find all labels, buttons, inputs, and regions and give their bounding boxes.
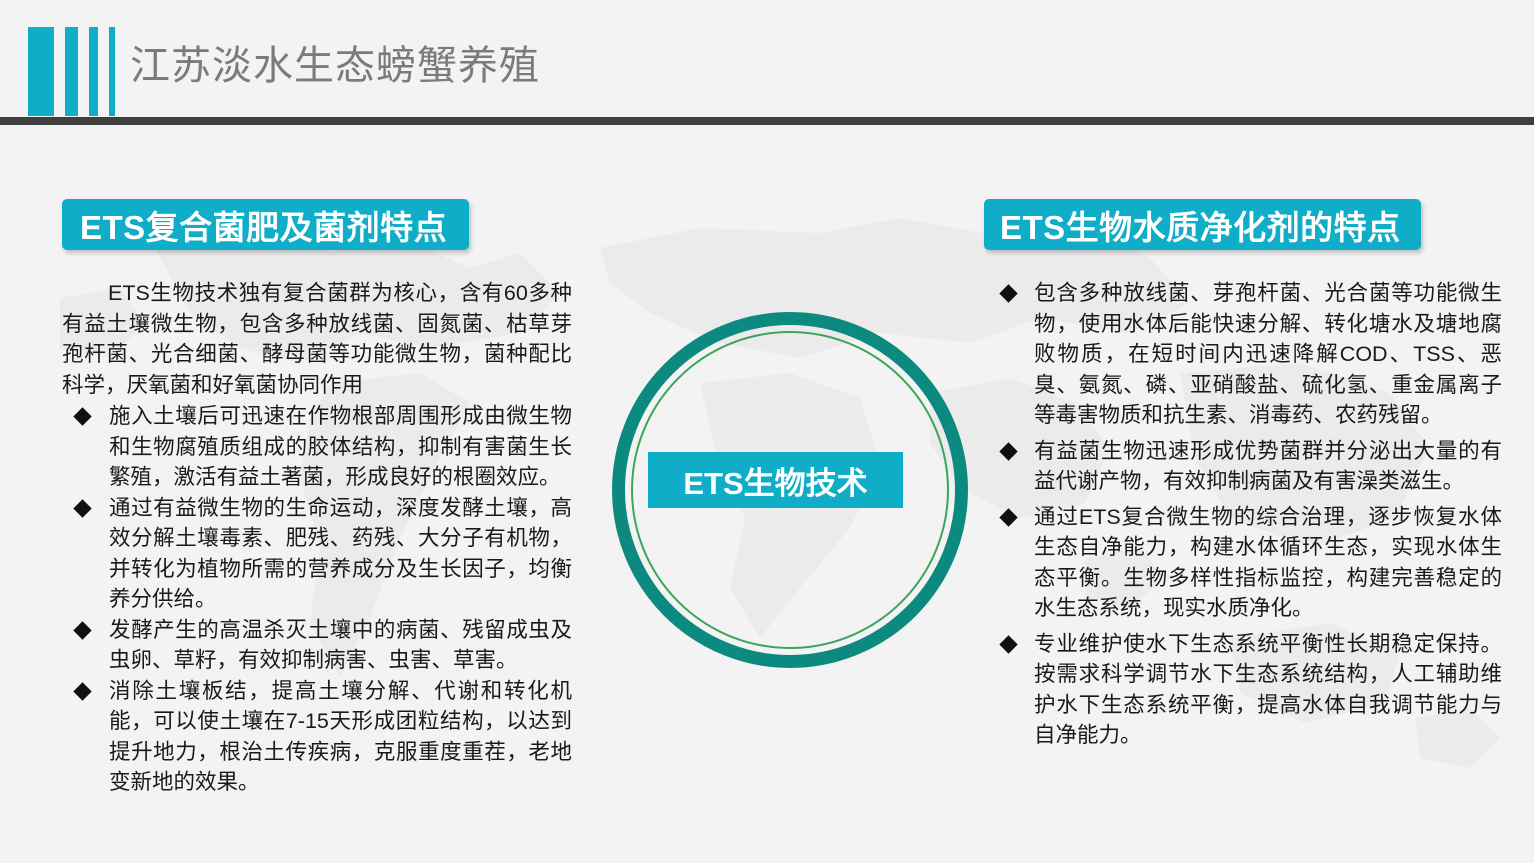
header-accent-bars bbox=[28, 27, 115, 116]
left-panel-body: ETS生物技术独有复合菌群为核心，含有60多种有益土壤微生物，包含多种放线菌、固… bbox=[62, 278, 572, 798]
left-panel-title: ETS复合菌肥及菌剂特点 bbox=[62, 199, 469, 250]
diamond-bullet-icon bbox=[73, 408, 91, 426]
header-divider bbox=[0, 117, 1534, 125]
accent-bar-1 bbox=[28, 27, 54, 116]
page-title: 江苏淡水生态螃蟹养殖 bbox=[130, 33, 540, 91]
left-bullet-4: 消除土壤板结，提高土壤分解、代谢和转化机能，可以使土壤在7-15天形成团粒结构，… bbox=[62, 676, 572, 798]
left-intro-paragraph: ETS生物技术独有复合菌群为核心，含有60多种有益土壤微生物，包含多种放线菌、固… bbox=[62, 278, 572, 400]
slide-header: 江苏淡水生态螃蟹养殖 bbox=[0, 0, 1534, 118]
left-bullet-1-text: 施入土壤后可迅速在作物根部周围形成由微生物和生物腐殖质组成的胶体结构，抑制有害菌… bbox=[109, 404, 572, 489]
diamond-bullet-icon bbox=[999, 508, 1017, 526]
right-bullet-4: 专业维护使水下生态系统平衡性长期稳定保持。按需求科学调节水下生态系统结构，人工辅… bbox=[990, 629, 1502, 751]
right-bullet-2-text: 有益菌生物迅速形成优势菌群并分泌出大量的有益代谢产物，有效抑制病菌及有害澡类滋生… bbox=[1034, 439, 1502, 494]
left-bullet-3: 发酵产生的高温杀灭土壤中的病菌、残留成虫及虫卵、草籽，有效抑制病害、虫害、草害。 bbox=[62, 615, 572, 676]
right-bullet-4-text: 专业维护使水下生态系统平衡性长期稳定保持。按需求科学调节水下生态系统结构，人工辅… bbox=[1034, 632, 1502, 748]
diamond-bullet-icon bbox=[73, 682, 91, 700]
diamond-bullet-icon bbox=[73, 499, 91, 517]
accent-bar-4 bbox=[109, 27, 115, 116]
right-bullet-1-text: 包含多种放线菌、芽孢杆菌、光合菌等功能微生物，使用水体后能快速分解、转化塘水及塘… bbox=[1034, 281, 1502, 427]
right-bullet-3: 通过ETS复合微生物的综合治理，逐步恢复水体生态自净能力，构建水体循环生态，实现… bbox=[990, 502, 1502, 624]
right-panel-title: ETS生物水质净化剂的特点 bbox=[984, 199, 1421, 250]
left-bullet-4-text: 消除土壤板结，提高土壤分解、代谢和转化机能，可以使土壤在7-15天形成团粒结构，… bbox=[109, 679, 572, 795]
accent-bar-3 bbox=[89, 27, 98, 116]
center-circle-label: ETS生物技术 bbox=[648, 452, 903, 508]
right-bullet-1: 包含多种放线菌、芽孢杆菌、光合菌等功能微生物，使用水体后能快速分解、转化塘水及塘… bbox=[990, 278, 1502, 431]
slide-canvas: 江苏淡水生态螃蟹养殖 ETS复合菌肥及菌剂特点 ETS生物技术独有复合菌群为核心… bbox=[0, 0, 1534, 863]
left-bullet-2: 通过有益微生物的生命运动，深度发酵土壤，高效分解土壤毒素、肥残、药残、大分子有机… bbox=[62, 493, 572, 615]
diamond-bullet-icon bbox=[999, 442, 1017, 460]
left-bullet-2-text: 通过有益微生物的生命运动，深度发酵土壤，高效分解土壤毒素、肥残、药残、大分子有机… bbox=[109, 496, 572, 612]
right-bullet-3-text: 通过ETS复合微生物的综合治理，逐步恢复水体生态自净能力，构建水体循环生态，实现… bbox=[1034, 505, 1502, 621]
diamond-bullet-icon bbox=[73, 621, 91, 639]
diamond-bullet-icon bbox=[999, 285, 1017, 303]
right-panel-body: 包含多种放线菌、芽孢杆菌、光合菌等功能微生物，使用水体后能快速分解、转化塘水及塘… bbox=[990, 278, 1502, 751]
center-circle-graphic: ETS生物技术 bbox=[612, 312, 968, 668]
left-bullet-1: 施入土壤后可迅速在作物根部周围形成由微生物和生物腐殖质组成的胶体结构，抑制有害菌… bbox=[62, 401, 572, 493]
right-bullet-2: 有益菌生物迅速形成优势菌群并分泌出大量的有益代谢产物，有效抑制病菌及有害澡类滋生… bbox=[990, 436, 1502, 497]
accent-bar-2 bbox=[65, 27, 78, 116]
diamond-bullet-icon bbox=[999, 635, 1017, 653]
left-bullet-3-text: 发酵产生的高温杀灭土壤中的病菌、残留成虫及虫卵、草籽，有效抑制病害、虫害、草害。 bbox=[109, 618, 572, 673]
